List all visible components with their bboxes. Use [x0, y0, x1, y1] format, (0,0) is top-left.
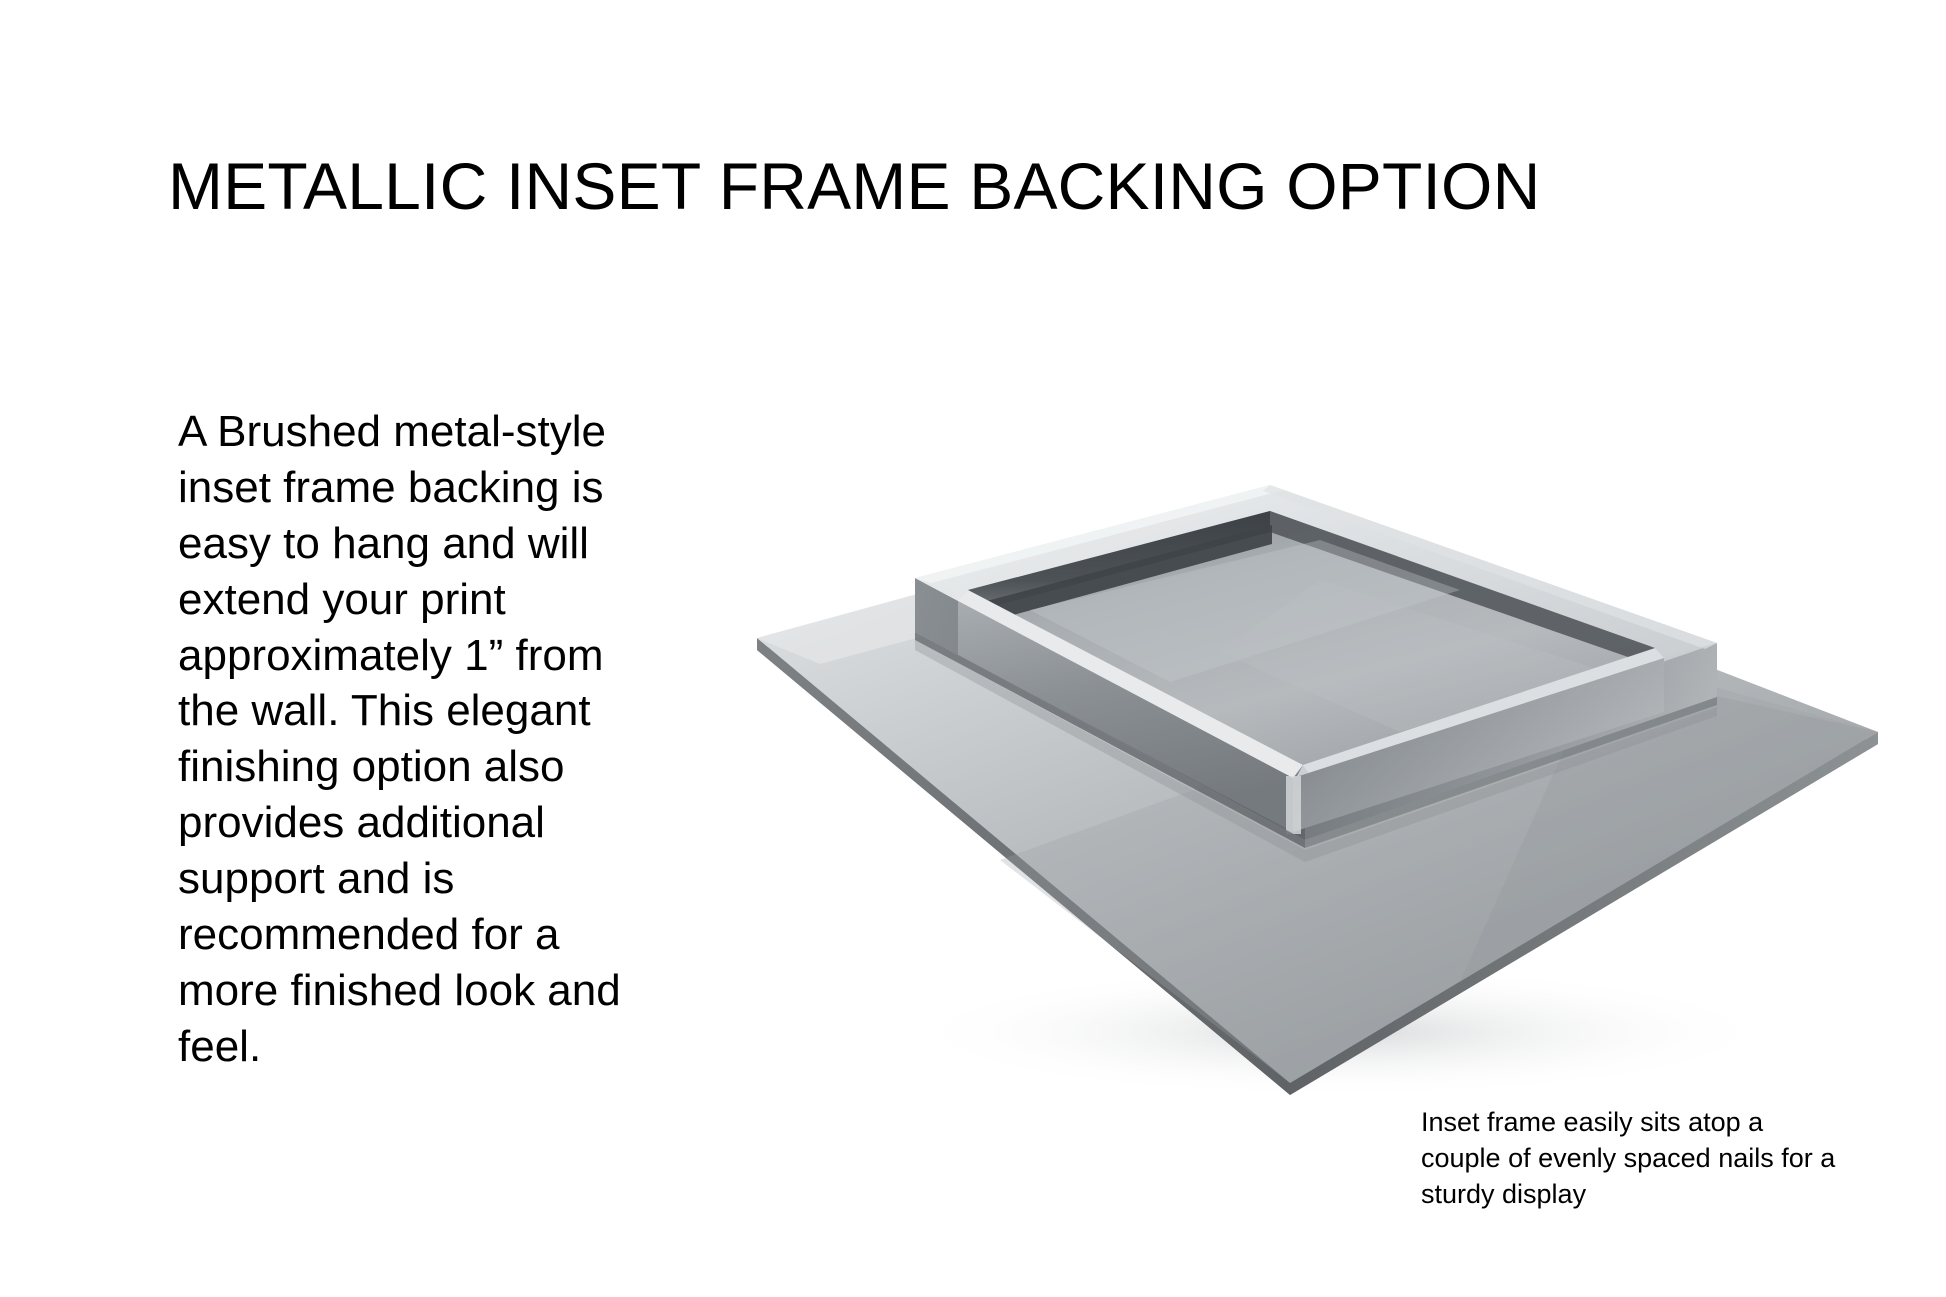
frame-illustration [700, 420, 1930, 1100]
figure-caption: Inset frame easily sits atop a couple of… [1421, 1105, 1841, 1213]
metallic-inset-frame-photo [700, 420, 1930, 1100]
slide-canvas: METALLIC INSET FRAME BACKING OPTION A Br… [0, 0, 1946, 1297]
page-title: METALLIC INSET FRAME BACKING OPTION [168, 152, 1808, 221]
body-paragraph: A Brushed metal-style inset frame backin… [178, 404, 648, 1075]
apex-highlight [1286, 776, 1301, 834]
